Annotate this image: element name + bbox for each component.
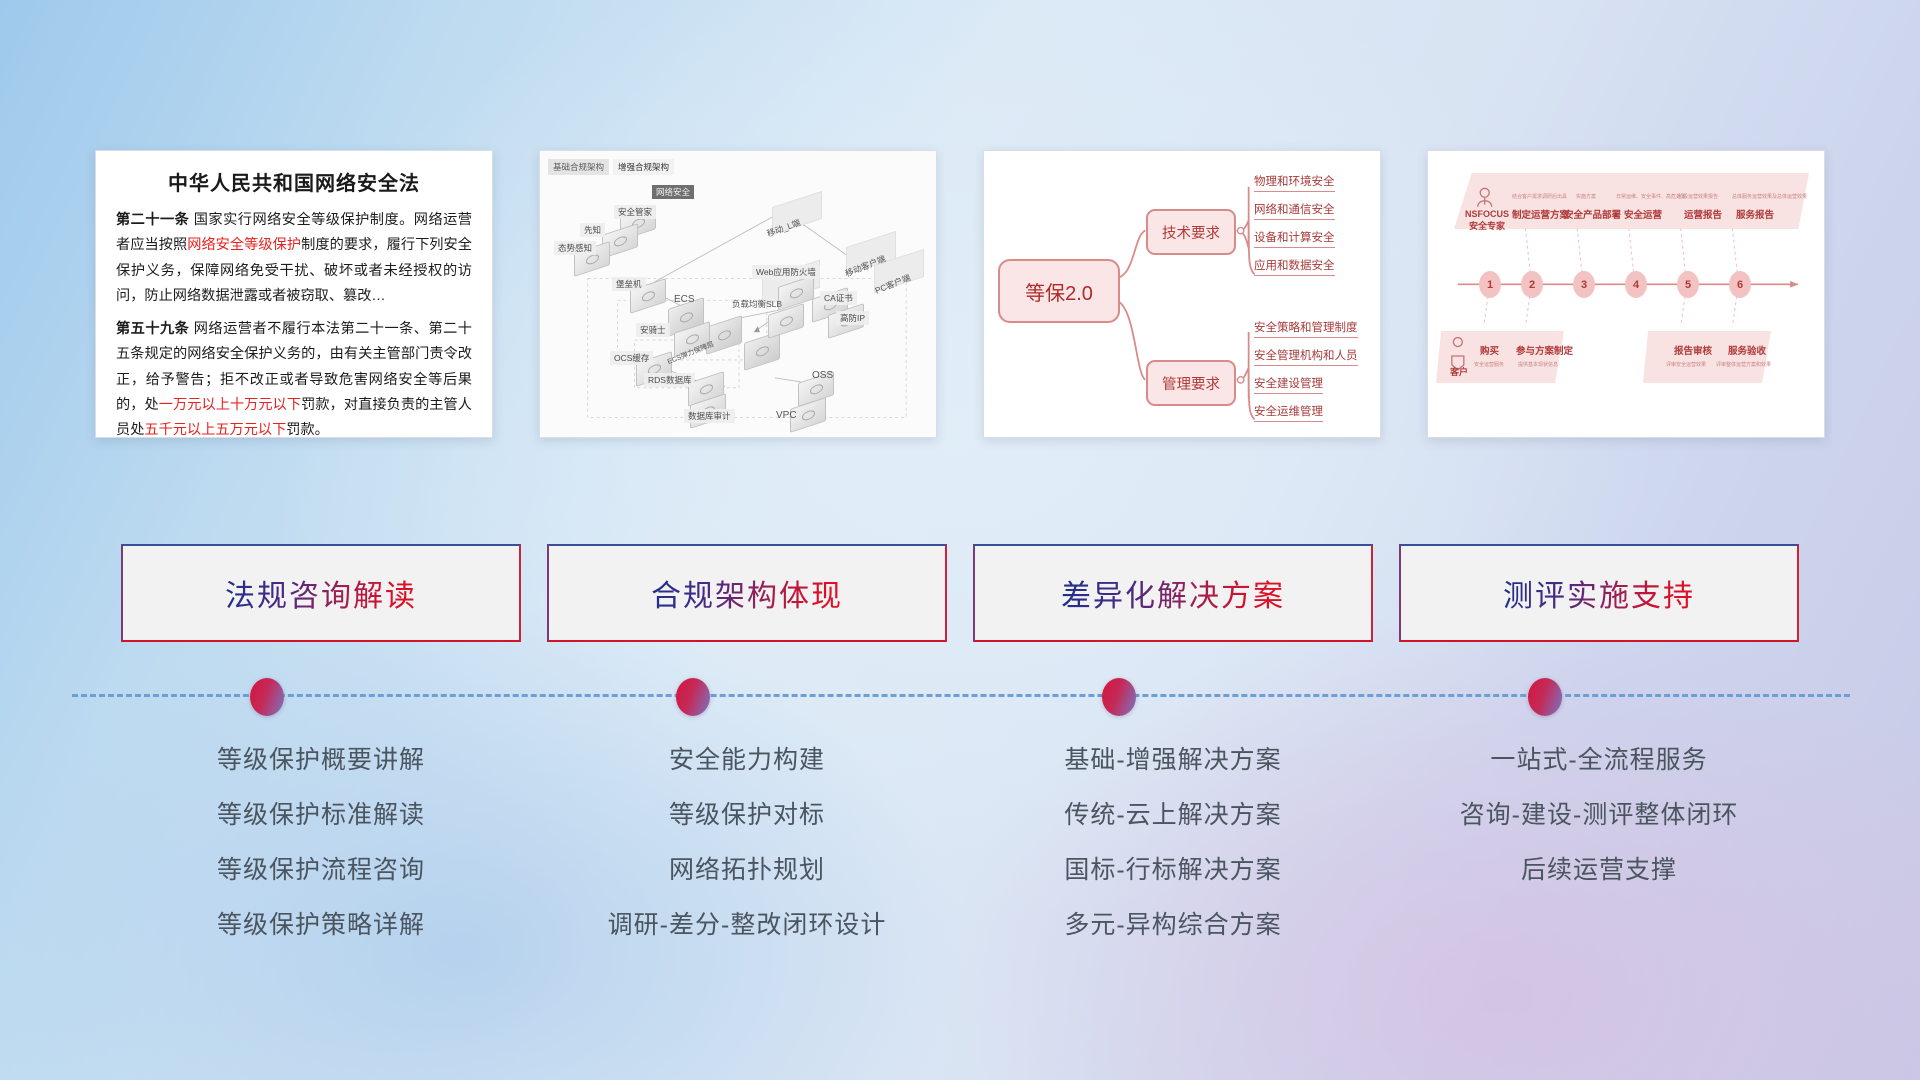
- mindmap-leaf-construction: 安全建设管理: [1254, 375, 1323, 394]
- section-heading-3-label: 差异化解决方案: [1061, 571, 1285, 615]
- arch-label-bastion-host: 堡垒机: [612, 277, 646, 291]
- mindmap-root-node: 等保2.0: [998, 259, 1120, 323]
- list-item: 等级保护策略详解: [217, 905, 425, 941]
- list-item: 传统-云上解决方案: [1064, 795, 1281, 831]
- arch-label-anqishi: 安骑士: [636, 323, 670, 337]
- card-mindmap-dengbao[interactable]: 等保2.0 技术要求 管理要求 物理和环境安全 网络和通信安全 设备和计算安全 …: [983, 150, 1381, 438]
- section-list-2: 安全能力构建 等级保护对标 网络拓扑规划 调研-差分-整改闭环设计: [547, 740, 947, 941]
- arch-label-db-audit: 数据库审计: [684, 409, 735, 423]
- section-list-4: 一站式-全流程服务 咨询-建设-测评整体闭环 后续运营支撑: [1399, 740, 1799, 941]
- roadmap-bottom-sub-3: 评审安全运营效果: [1666, 361, 1706, 368]
- mindmap-branch-management: 管理要求: [1146, 360, 1236, 406]
- roadmap-top-sub-1: 结合客户需求调研后出具: [1512, 193, 1567, 200]
- law-article-21: 第二十一条 国家实行网络安全等级保护制度。网络运营者应当按照网络安全等级保护制度…: [116, 208, 472, 309]
- roadmap-bottom-title-1: 购买: [1480, 343, 1499, 357]
- arch-label-situational-awareness: 态势感知: [554, 241, 596, 255]
- roadmap-step-4: 4: [1625, 271, 1647, 298]
- card-cybersecurity-law[interactable]: 中华人民共和国网络安全法 第二十一条 国家实行网络安全等级保护制度。网络运营者应…: [95, 150, 493, 438]
- section-heading-2-label: 合规架构体现: [651, 571, 843, 615]
- section-heading-1[interactable]: 法规咨询解读: [121, 544, 521, 642]
- list-item: 网络拓扑规划: [669, 850, 825, 886]
- list-item: 基础-增强解决方案: [1064, 740, 1281, 776]
- roadmap-actor-expert: NSFOCUS 安全专家: [1458, 209, 1516, 232]
- mindmap-branch-technical: 技术要求: [1146, 209, 1236, 255]
- list-item: 等级保护对标: [669, 795, 825, 831]
- list-item: 等级保护流程咨询: [217, 850, 425, 886]
- roadmap-top-title-1: 制定运营方案: [1512, 207, 1569, 221]
- roadmap-top-sub-3: 日常运维、安全事件、高危处置: [1616, 193, 1686, 200]
- mindmap-leaf-ops: 安全运维管理: [1254, 403, 1323, 422]
- arch-label-vpc: VPC: [772, 409, 801, 422]
- roadmap-step-2: 2: [1521, 271, 1543, 298]
- card-service-roadmap[interactable]: NSFOCUS 安全专家 客户 1 2 3 4 5 6 结合客户需求调研后出具 …: [1427, 150, 1825, 438]
- mindmap-leaf-policy: 安全策略和管理制度: [1254, 319, 1358, 338]
- roadmap-top-title-4: 运营报告: [1684, 207, 1722, 221]
- timeline-dot-4[interactable]: [1528, 678, 1562, 716]
- roadmap-bottom-sub-4: 评审整体运营方案和效果: [1716, 361, 1771, 368]
- list-item: 等级保护概要讲解: [217, 740, 425, 776]
- section-heading-3[interactable]: 差异化解决方案: [973, 544, 1373, 642]
- roadmap-bottom-title-3: 报告审核: [1674, 343, 1712, 357]
- roadmap-actor-expert-role: 安全专家: [1458, 219, 1516, 232]
- list-item: 国标-行标解决方案: [1064, 850, 1281, 886]
- roadmap-step-1: 1: [1479, 271, 1501, 298]
- arch-label-ecs: ECS: [670, 293, 699, 306]
- arch-label-network-security: 网络安全: [652, 185, 694, 199]
- mindmap-leaf-org: 安全管理机构和人员: [1254, 347, 1358, 366]
- section-heading-2[interactable]: 合规架构体现: [547, 544, 947, 642]
- arch-label-ca-cert: CA证书: [820, 291, 857, 305]
- timeline-dashed-line: [72, 694, 1850, 699]
- roadmap-bottom-sub-1: 安全运营服务: [1474, 361, 1504, 368]
- arch-label-waf: Web应用防火墙: [752, 265, 820, 279]
- law-title: 中华人民共和国网络安全法: [116, 167, 472, 196]
- mindmap-leaf-network: 网络和通信安全: [1254, 201, 1335, 220]
- thumbnail-cards-row: 中华人民共和国网络安全法 第二十一条 国家实行网络安全等级保护制度。网络运营者应…: [0, 150, 1920, 440]
- roadmap-bottom-title-4: 服务验收: [1728, 343, 1766, 357]
- law-article-59-text-c: 罚款。: [286, 422, 329, 438]
- list-item: 咨询-建设-测评整体闭环: [1460, 795, 1739, 831]
- roadmap-bottom-title-2: 参与方案制定: [1516, 343, 1573, 357]
- section-heading-4[interactable]: 测评实施支持: [1399, 544, 1799, 642]
- list-item: 安全能力构建: [669, 740, 825, 776]
- roadmap-step-3: 3: [1573, 271, 1595, 298]
- law-article-59-label: 第五十九条: [116, 321, 189, 337]
- roadmap-top-title-2: 安全产品部署: [1564, 207, 1621, 221]
- arch-label-slb: 负载均衡SLB: [728, 297, 786, 311]
- card-compliance-architecture[interactable]: 基础合规架构 增强合规架构: [539, 150, 937, 438]
- arch-label-ocs-cache: OCS缓存: [610, 351, 653, 365]
- arch-label-security-steward: 安全管家: [614, 205, 656, 219]
- arch-label-oss: OSS: [808, 369, 837, 382]
- roadmap-actor-customer: 客户: [1442, 365, 1476, 378]
- slide-canvas: 中华人民共和国网络安全法 第二十一条 国家实行网络安全等级保护制度。网络运营者应…: [0, 0, 1920, 1080]
- section-lists-row: 等级保护概要讲解 等级保护标准解读 等级保护流程咨询 等级保护策略详解 安全能力…: [0, 740, 1920, 941]
- law-article-21-highlight: 网络安全等级保护: [187, 237, 301, 253]
- roadmap-step-5: 5: [1677, 271, 1699, 298]
- roadmap-actor-expert-name: NSFOCUS: [1458, 209, 1516, 219]
- law-article-21-label: 第二十一条: [116, 212, 189, 228]
- timeline-dot-3[interactable]: [1102, 678, 1136, 716]
- section-list-1: 等级保护概要讲解 等级保护标准解读 等级保护流程咨询 等级保护策略详解: [121, 740, 521, 941]
- section-heading-1-label: 法规咨询解读: [225, 571, 417, 615]
- section-list-3: 基础-增强解决方案 传统-云上解决方案 国标-行标解决方案 多元-异构综合方案: [973, 740, 1373, 941]
- roadmap-step-6: 6: [1729, 271, 1751, 298]
- section-headings-row: 法规咨询解读 合规架构体现 差异化解决方案 测评实施支持: [0, 544, 1920, 642]
- list-item: 一站式-全流程服务: [1490, 740, 1707, 776]
- roadmap-top-sub-4: 阶段运营效果报告: [1678, 193, 1718, 200]
- law-article-59-highlight-b: 五千元以上五万元以下: [144, 422, 286, 438]
- roadmap-top-sub-5: 总体服务运营效果及总体运营效果: [1732, 193, 1807, 200]
- mindmap-leaf-device: 设备和计算安全: [1254, 229, 1335, 248]
- mindmap-leaf-physical: 物理和环境安全: [1254, 173, 1335, 192]
- arch-label-anti-ddos-ip: 高防IP: [836, 311, 869, 325]
- arch-label-xianzhi: 先知: [580, 223, 605, 237]
- mindmap-leaf-application: 应用和数据安全: [1254, 257, 1335, 276]
- law-article-59-highlight-a: 一万元以上十万元以下: [159, 397, 301, 413]
- list-item: 等级保护标准解读: [217, 795, 425, 831]
- list-item: 调研-差分-整改闭环设计: [608, 905, 887, 941]
- timeline-dot-2[interactable]: [676, 678, 710, 716]
- roadmap-top-title-5: 服务报告: [1736, 207, 1774, 221]
- roadmap-top-sub-2: 实施方案: [1576, 193, 1596, 200]
- roadmap-bottom-sub-2: 提供基本现状信息: [1518, 361, 1558, 368]
- timeline-dot-1[interactable]: [250, 678, 284, 716]
- list-item: 多元-异构综合方案: [1064, 905, 1281, 941]
- law-article-59: 第五十九条 网络运营者不履行本法第二十一条、第二十五条规定的网络安全保护义务的，…: [116, 317, 472, 438]
- section-heading-4-label: 测评实施支持: [1503, 571, 1695, 615]
- list-item: 后续运营支撑: [1521, 850, 1677, 886]
- arch-label-rds-db: RDS数据库: [644, 373, 695, 387]
- roadmap-top-title-3: 安全运营: [1624, 207, 1662, 221]
